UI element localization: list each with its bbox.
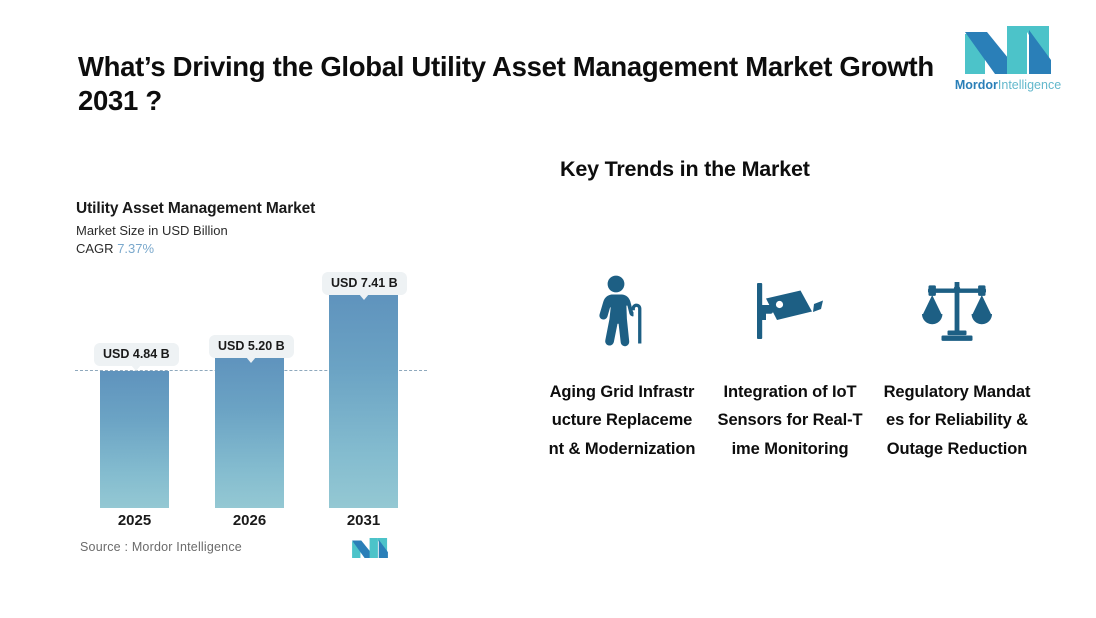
mordor-intelligence-mark-icon [352, 538, 388, 558]
bar-label-2025: USD 4.84 B [94, 343, 179, 366]
bar-2025 [100, 371, 169, 508]
bar-2031 [329, 294, 398, 508]
trend-label-3: Regulatory Mandates for Reliability & Ou… [883, 378, 1031, 463]
bar-label-2026: USD 5.20 B [209, 335, 294, 358]
elderly-person-with-cane-icon [548, 272, 696, 350]
trend-label-2: Integration of IoT Sensors for Real-Time… [716, 378, 864, 463]
brand-name-light: Intelligence [998, 78, 1061, 92]
trend-item-2: Integration of IoT Sensors for Real-Time… [716, 272, 864, 463]
bar-label-2031: USD 7.41 B [322, 272, 407, 295]
chart-source-label: Source : Mordor Intelligence [80, 540, 242, 554]
x-tick-2031: 2031 [329, 512, 398, 529]
trends-heading: Key Trends in the Market [560, 157, 810, 182]
x-tick-2026: 2026 [215, 512, 284, 529]
brand-logo: MordorIntelligence [952, 26, 1064, 100]
security-camera-icon [716, 272, 864, 350]
trend-item-1: Aging Grid Infrastructure Replacement & … [548, 272, 696, 463]
x-tick-2025: 2025 [100, 512, 169, 529]
bar-2026 [215, 357, 284, 508]
trend-label-1: Aging Grid Infrastructure Replacement & … [548, 378, 696, 463]
trend-item-3: Regulatory Mandates for Reliability & Ou… [883, 272, 1031, 463]
chart-panel: Utility Asset Management Market Market S… [0, 0, 470, 618]
scales-of-justice-icon [883, 272, 1031, 350]
brand-name-bold: Mordor [955, 78, 998, 92]
bar-chart-plot-area: USD 4.84 B 2025 USD 5.20 B 2026 USD 7.41… [0, 0, 470, 618]
mordor-intelligence-logo-icon [965, 26, 1051, 74]
brand-logo-text: MordorIntelligence [952, 78, 1064, 92]
